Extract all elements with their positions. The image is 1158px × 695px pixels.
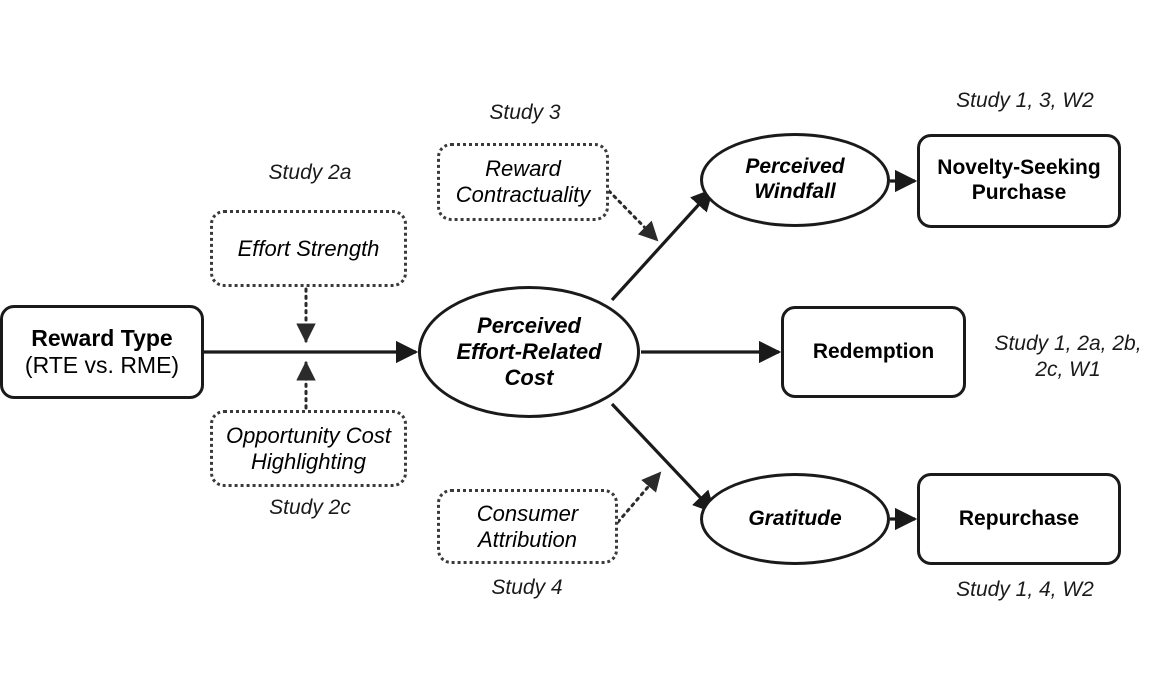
node-consumer-attribution-line1: Consumer	[477, 501, 578, 527]
node-effort-strength-label: Effort Strength	[238, 236, 380, 262]
node-perceived-windfall[interactable]: Perceived Windfall	[700, 133, 890, 227]
node-consumer-attribution[interactable]: Consumer Attribution	[437, 489, 618, 564]
node-opportunity-cost-line2: Highlighting	[226, 449, 391, 475]
edge-cost-to-windfall	[612, 190, 712, 300]
node-novelty-seeking-line1: Novelty-Seeking	[937, 156, 1100, 181]
edge-reward-contractuality-moderator	[609, 191, 657, 240]
node-opportunity-cost-highlighting[interactable]: Opportunity Cost Highlighting	[210, 410, 407, 487]
study-label-study-1-4-w2: Study 1, 4, W2	[915, 577, 1135, 603]
node-reward-type-line2: (RTE vs. RME)	[25, 352, 179, 379]
node-opportunity-cost-line1: Opportunity Cost	[226, 423, 391, 449]
node-reward-type-line1: Reward Type	[25, 325, 179, 352]
node-gratitude[interactable]: Gratitude	[700, 473, 890, 565]
node-gratitude-label: Gratitude	[748, 507, 841, 532]
node-perceived-cost-line1: Perceived	[456, 313, 601, 339]
diagram-canvas: Reward Type (RTE vs. RME) Effort Strengt…	[0, 0, 1158, 695]
edge-consumer-attribution-moderator	[618, 473, 660, 522]
study-label-study-1-2a-2b-2c-w1: Study 1, 2a, 2b, 2c, W1	[978, 331, 1158, 384]
node-reward-contractuality[interactable]: Reward Contractuality	[437, 143, 609, 221]
node-perceived-cost-line2: Effort-Related	[456, 339, 601, 365]
study-label-study-2a: Study 2a	[215, 160, 405, 186]
study-label-study-2c: Study 2c	[215, 495, 405, 521]
node-perceived-effort-related-cost[interactable]: Perceived Effort-Related Cost	[418, 286, 640, 418]
study-label-study-1-3-w2: Study 1, 3, W2	[915, 88, 1135, 114]
study-label-study-3: Study 3	[430, 100, 620, 126]
node-repurchase[interactable]: Repurchase	[917, 473, 1121, 565]
edge-cost-to-gratitude	[612, 404, 714, 512]
node-redemption-label: Redemption	[813, 340, 934, 365]
study-label-study-4: Study 4	[432, 575, 622, 601]
node-perceived-windfall-line1: Perceived	[745, 155, 844, 180]
node-consumer-attribution-line2: Attribution	[477, 527, 578, 553]
node-perceived-windfall-line2: Windfall	[745, 180, 844, 205]
node-repurchase-label: Repurchase	[959, 507, 1079, 532]
node-novelty-seeking-purchase[interactable]: Novelty-Seeking Purchase	[917, 134, 1121, 228]
node-perceived-cost-line3: Cost	[456, 365, 601, 391]
node-reward-contractuality-line1: Reward	[456, 156, 591, 182]
node-effort-strength[interactable]: Effort Strength	[210, 210, 407, 287]
node-redemption[interactable]: Redemption	[781, 306, 966, 398]
node-novelty-seeking-line2: Purchase	[937, 181, 1100, 206]
node-reward-type[interactable]: Reward Type (RTE vs. RME)	[0, 305, 204, 399]
node-reward-contractuality-line2: Contractuality	[456, 182, 591, 208]
